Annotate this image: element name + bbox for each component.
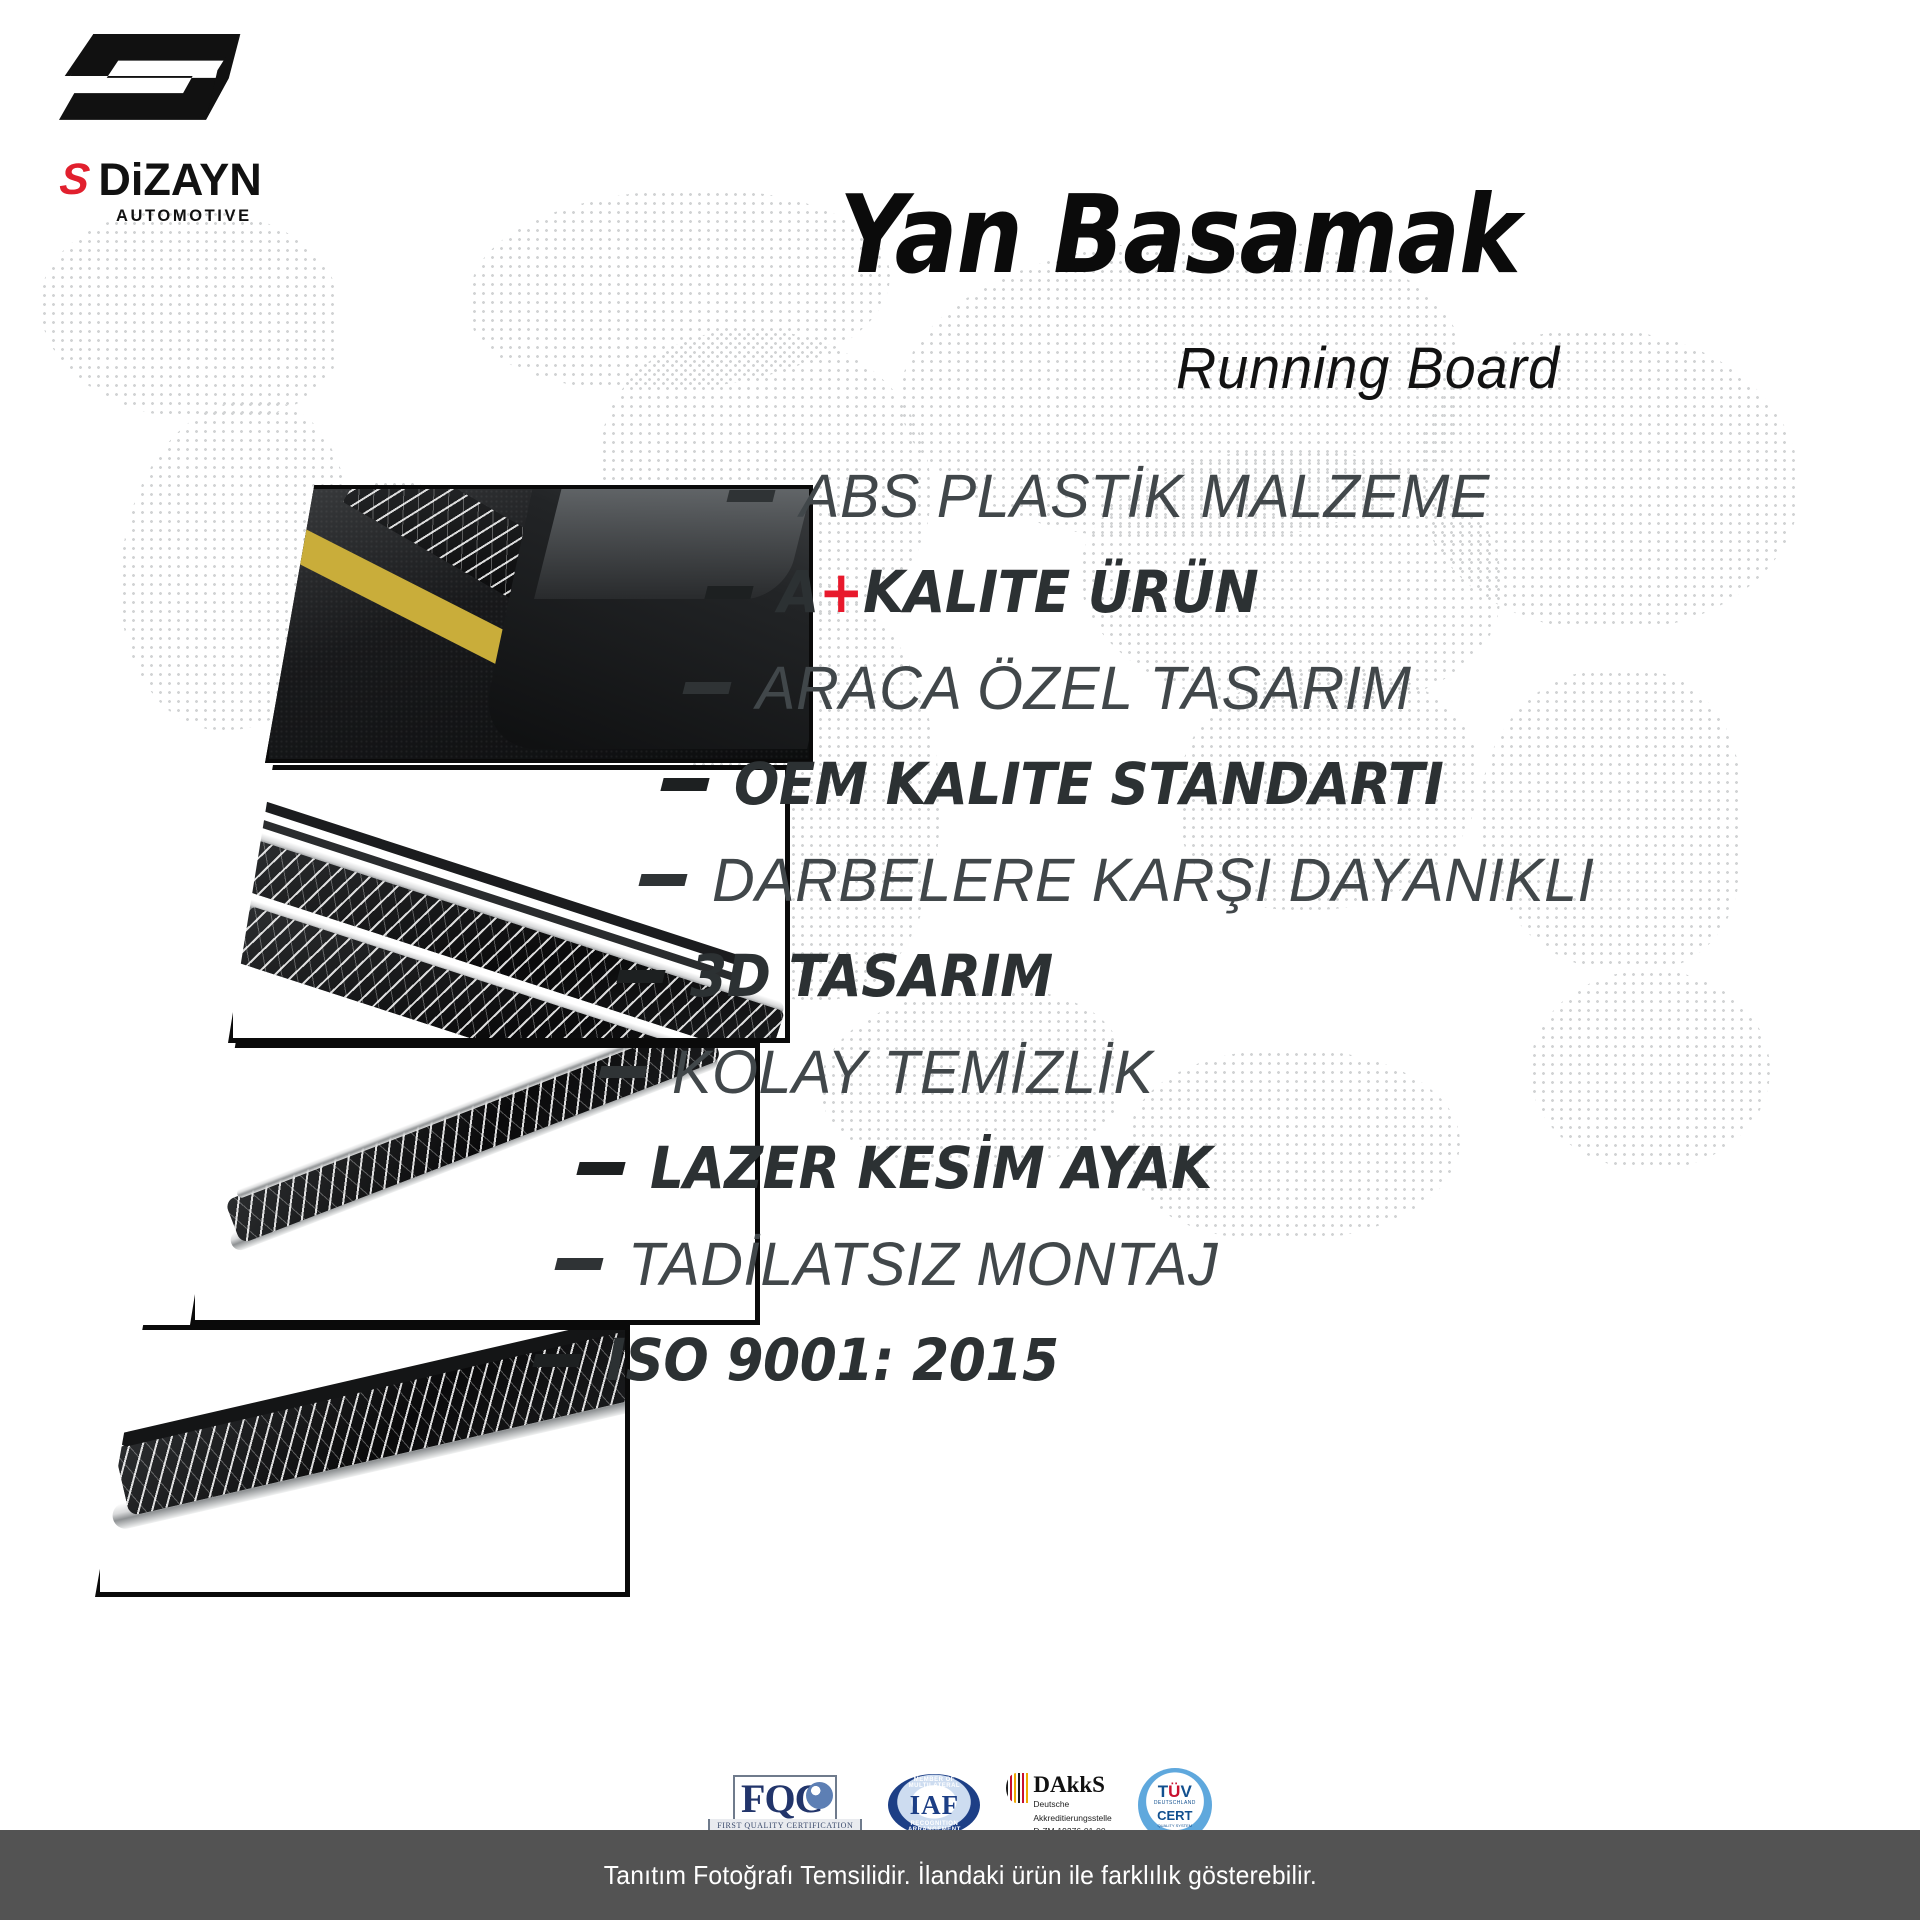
- dakks-line1: Deutsche: [1033, 1799, 1111, 1810]
- fqc-certification-logo: FQC FIRST QUALITY CERTIFICATION: [708, 1775, 862, 1835]
- feature-item: A+KALITE ÜRÜN: [706, 544, 1920, 640]
- bullet-dash-icon: [576, 1162, 625, 1175]
- plus-accent: +: [819, 558, 863, 626]
- feature-item: ISO 9001: 2015: [534, 1312, 1920, 1408]
- feature-item: DARBELERE KARŞI DAYANIKLI: [640, 832, 1920, 928]
- bullet-dash-icon: [639, 874, 688, 886]
- feature-item: OEM KALITE STANDARTI: [662, 736, 1920, 832]
- feature-label: A+KALITE ÜRÜN: [778, 563, 1258, 621]
- tuv-letters: TÜV: [1158, 1783, 1192, 1800]
- dakks-mark-icon: [1006, 1773, 1028, 1803]
- feature-label: DARBELERE KARŞI DAYANIKLI: [712, 850, 1594, 911]
- feature-item: LAZER KESİM AYAK: [578, 1120, 1920, 1216]
- iaf-letters: IAF: [910, 1790, 960, 1821]
- iaf-certification-logo: MEMBER OF MULTILATERAL IAF RECOGNITION A…: [888, 1774, 980, 1836]
- dakks-certification-logo: DAkkS Deutsche Akkreditierungsstelle D-Z…: [1006, 1773, 1111, 1837]
- feature-label: ISO 9001: 2015: [606, 1331, 1059, 1389]
- feature-item: ABS PLASTİK MALZEME: [728, 448, 1920, 544]
- iaf-ring-top-text: MEMBER OF MULTILATERAL: [888, 1777, 980, 1789]
- bullet-dash-icon: [683, 682, 732, 694]
- feature-item: TADİLATSIZ MONTAJ: [556, 1216, 1920, 1312]
- footer-disclaimer-text: Tanıtım Fotoğrafı Temsilidir. İlandaki ü…: [603, 1860, 1316, 1891]
- feature-label: ABS PLASTİK MALZEME: [800, 466, 1490, 527]
- page-title: Yan Basamak: [213, 182, 1520, 290]
- tuv-tiny-text: QUALITY SYSTEM: [1157, 1823, 1192, 1828]
- globe-icon: [806, 1782, 833, 1809]
- feature-label: OEM KALITE STANDARTI: [734, 755, 1443, 813]
- bullet-dash-icon: [555, 1258, 604, 1270]
- product-poster: S DiZAYN AUTOMOTIVE Yan Basamak Running …: [0, 0, 1920, 1920]
- bullet-dash-icon: [616, 970, 665, 983]
- feature-label: ARACA ÖZEL TASARIM: [756, 658, 1411, 719]
- bullet-dash-icon: [599, 1066, 648, 1078]
- feature-item: 3D TASARIM: [618, 928, 1920, 1024]
- feature-label: LAZER KESİM AYAK: [650, 1139, 1212, 1197]
- tuv-cert-word: CERT: [1157, 1809, 1192, 1822]
- bullet-dash-icon: [532, 1354, 581, 1367]
- feature-label: KOLAY TEMİZLİK: [672, 1042, 1153, 1103]
- feature-item: KOLAY TEMİZLİK: [600, 1024, 1920, 1120]
- page-subtitle: Running Board: [62, 340, 1560, 398]
- footer-disclaimer-bar: Tanıtım Fotoğrafı Temsilidir. İlandaki ü…: [0, 1830, 1920, 1920]
- tuv-country: DEUTSCHLAND: [1154, 1800, 1196, 1806]
- dakks-name: DAkkS: [1033, 1773, 1111, 1796]
- s-dizayn-logo-icon: [38, 28, 248, 143]
- dakks-line2: Akkreditierungsstelle: [1033, 1813, 1111, 1824]
- logo-s-letter: S: [58, 158, 90, 202]
- feature-label: TADİLATSIZ MONTAJ: [628, 1234, 1218, 1295]
- feature-list: ABS PLASTİK MALZEME A+KALITE ÜRÜN ARACA …: [600, 448, 1920, 1408]
- bullet-dash-icon: [727, 490, 776, 502]
- feature-label: 3D TASARIM: [690, 947, 1053, 1005]
- bullet-dash-icon: [704, 586, 753, 599]
- feature-item: ARACA ÖZEL TASARIM: [684, 640, 1920, 736]
- bullet-dash-icon: [660, 778, 709, 791]
